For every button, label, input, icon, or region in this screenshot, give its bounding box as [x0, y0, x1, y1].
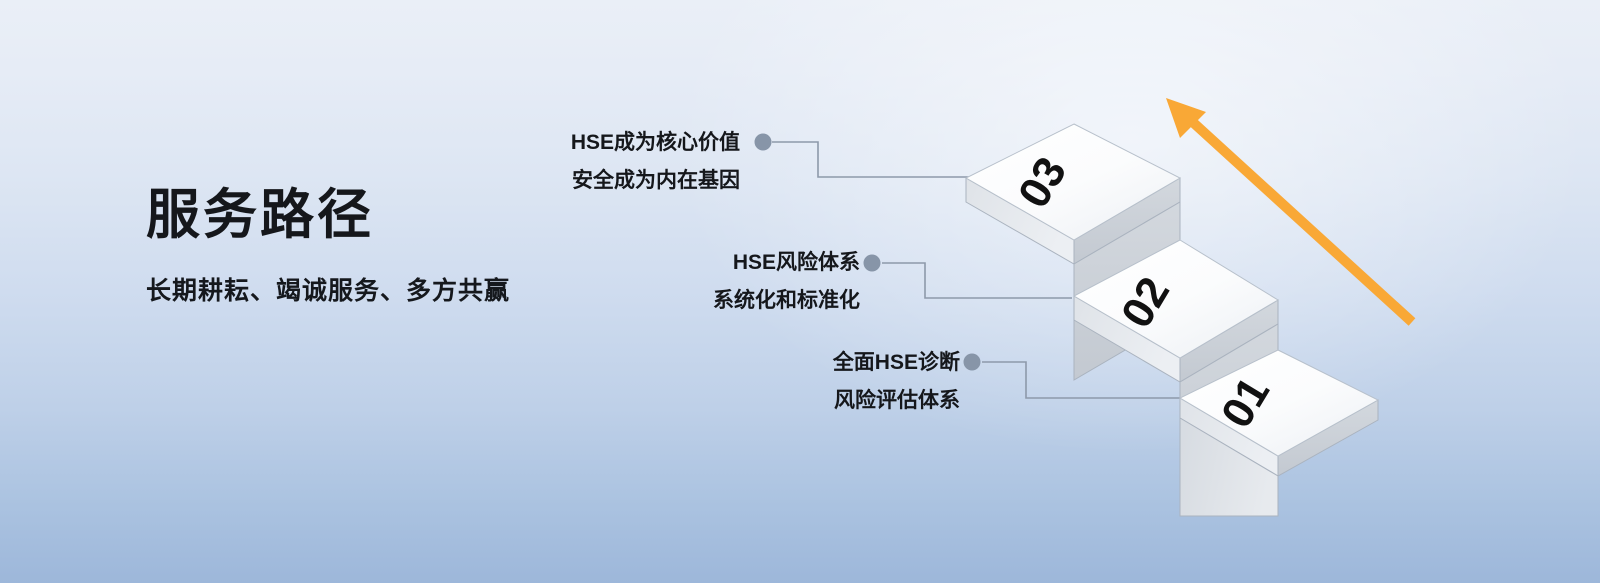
step-callout-02-line1: HSE风险体系 [480, 252, 860, 273]
step-callout-03: HSE成为核心价值 安全成为内在基因 [360, 132, 740, 191]
page-title: 服务路径 [146, 186, 374, 245]
step-callout-01-line1: 全面HSE诊断 [580, 352, 960, 373]
step-callout-01: 全面HSE诊断 风险评估体系 [580, 352, 960, 411]
step-callout-03-line1: HSE成为核心价值 [360, 132, 740, 153]
page-subtitle: 长期耕耘、竭诚服务、多方共赢 [146, 276, 510, 306]
step-callout-02: HSE风险体系 系统化和标准化 [480, 252, 860, 311]
step-callout-03-line2: 安全成为内在基因 [360, 170, 740, 191]
slide-canvas: 03 02 01 服务路径 长期耕耘、竭诚服务、多方共赢 HSE成为核心价值 [0, 0, 1600, 583]
growth-arrow-shaft [1186, 116, 1412, 322]
step-callout-02-line2: 系统化和标准化 [480, 290, 860, 311]
growth-arrow-shape [1166, 98, 1412, 322]
step-callout-01-line2: 风险评估体系 [580, 390, 960, 411]
